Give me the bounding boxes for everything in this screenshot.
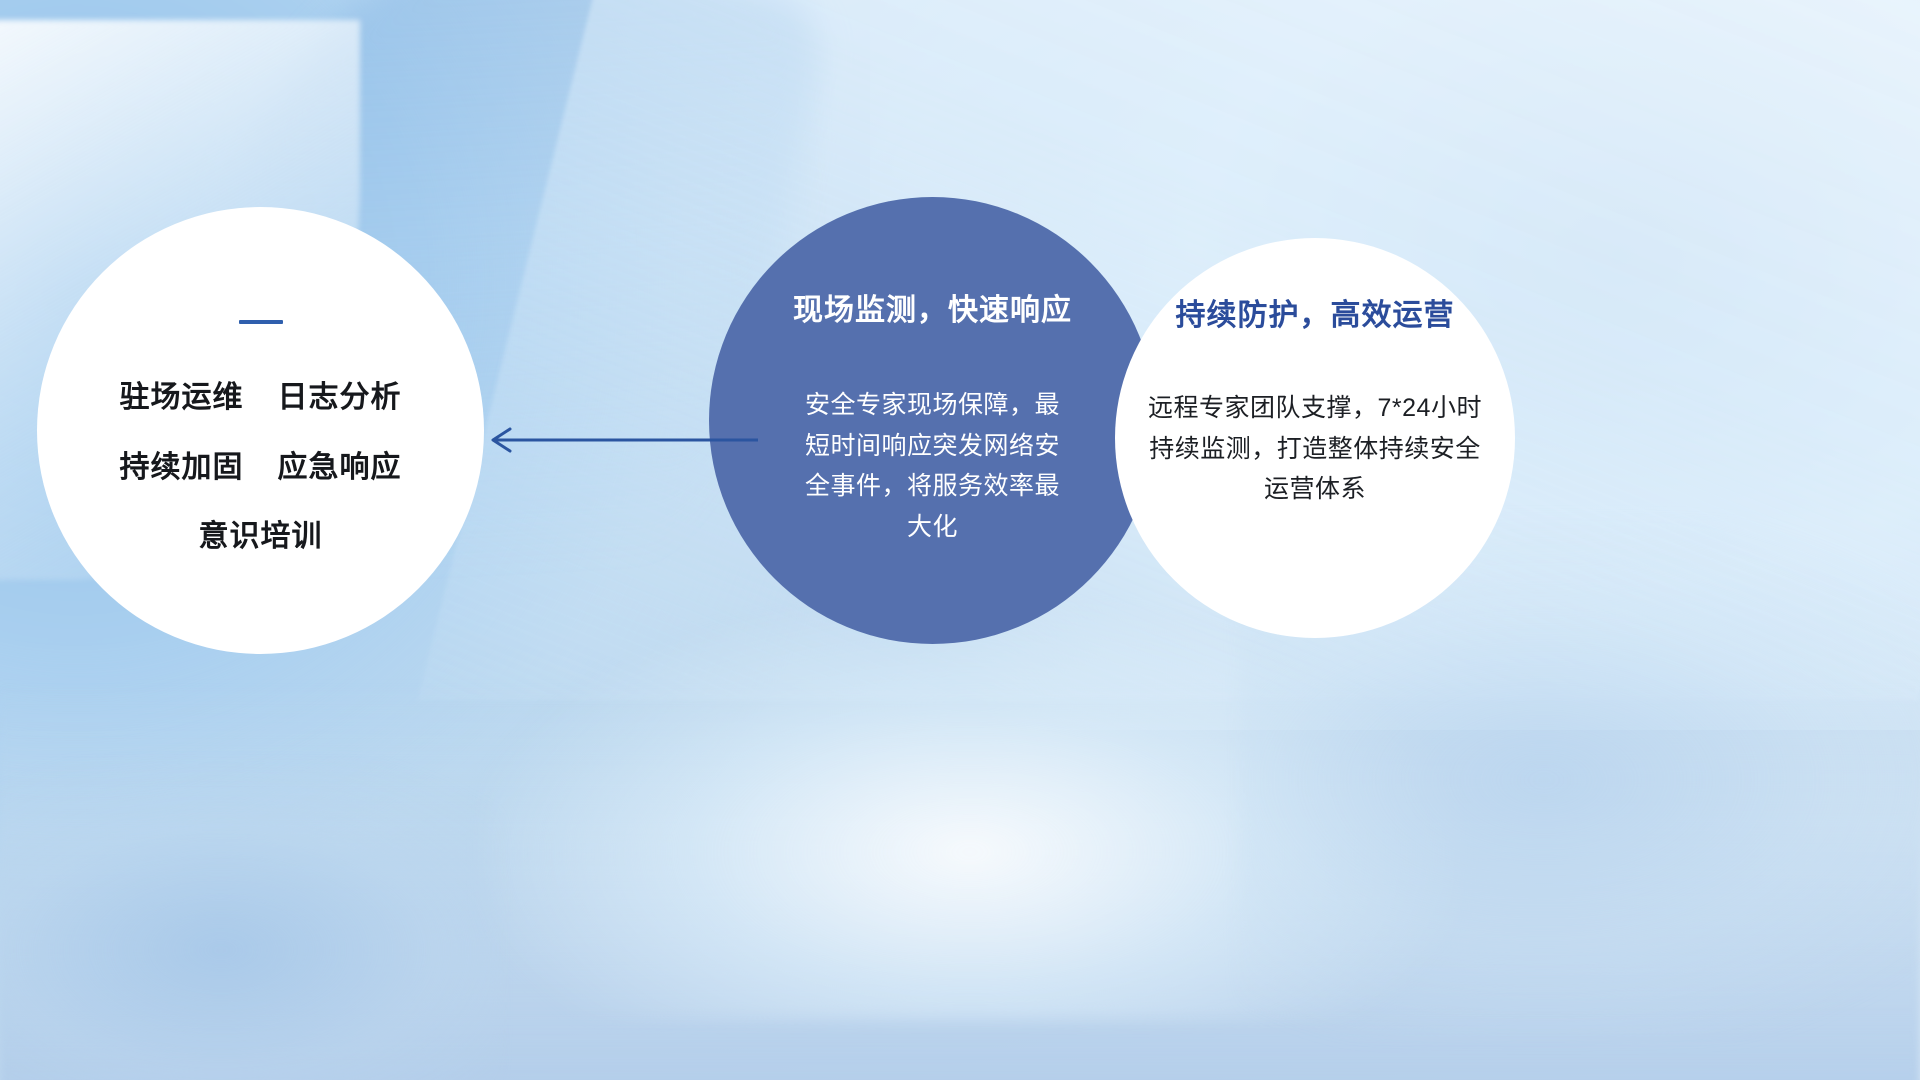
slide-canvas: 驻场运维 日志分析 持续加固 应急响应 意识培训 现场监测，快速响应 安全专家现…: [0, 0, 1920, 1080]
keyword-row: 驻场运维 日志分析: [120, 376, 402, 420]
onsite-monitoring-content: 现场监测，快速响应 安全专家现场保障，最短时间响应突发网络安全事件，将服务效率最…: [709, 197, 1156, 644]
continuous-protection-body: 远程专家团队支撑，7*24小时持续监测，打造整体持续安全运营体系: [1140, 388, 1490, 510]
keyword-row: 持续加固 应急响应: [120, 446, 402, 490]
continuous-protection-circle[interactable]: 持续防护，高效运营 远程专家团队支撑，7*24小时持续监测，打造整体持续安全运营…: [1115, 238, 1515, 638]
background-glow-bottom-left: [0, 760, 500, 1080]
keyword-row: 意识培训: [199, 515, 323, 559]
blue-dash-divider-icon: [239, 320, 283, 324]
capability-keywords-content: 驻场运维 日志分析 持续加固 应急响应 意识培训: [37, 207, 484, 654]
continuous-protection-title: 持续防护，高效运营: [1176, 290, 1455, 334]
onsite-monitoring-body: 安全专家现场保障，最短时间响应突发网络安全事件，将服务效率最大化: [797, 385, 1069, 547]
keyword-chip[interactable]: 日志分析: [278, 376, 402, 420]
continuous-protection-content: 持续防护，高效运营 远程专家团队支撑，7*24小时持续监测，打造整体持续安全运营…: [1115, 238, 1515, 638]
keyword-chip[interactable]: 意识培训: [199, 515, 323, 559]
onsite-monitoring-circle[interactable]: 现场监测，快速响应 安全专家现场保障，最短时间响应突发网络安全事件，将服务效率最…: [709, 197, 1156, 644]
keyword-chip[interactable]: 驻场运维: [120, 376, 244, 420]
onsite-monitoring-title: 现场监测，快速响应: [793, 285, 1072, 329]
keyword-chip[interactable]: 持续加固: [120, 446, 244, 490]
keyword-chip[interactable]: 应急响应: [278, 446, 402, 490]
capability-keywords-circle[interactable]: 驻场运维 日志分析 持续加固 应急响应 意识培训: [37, 207, 484, 654]
